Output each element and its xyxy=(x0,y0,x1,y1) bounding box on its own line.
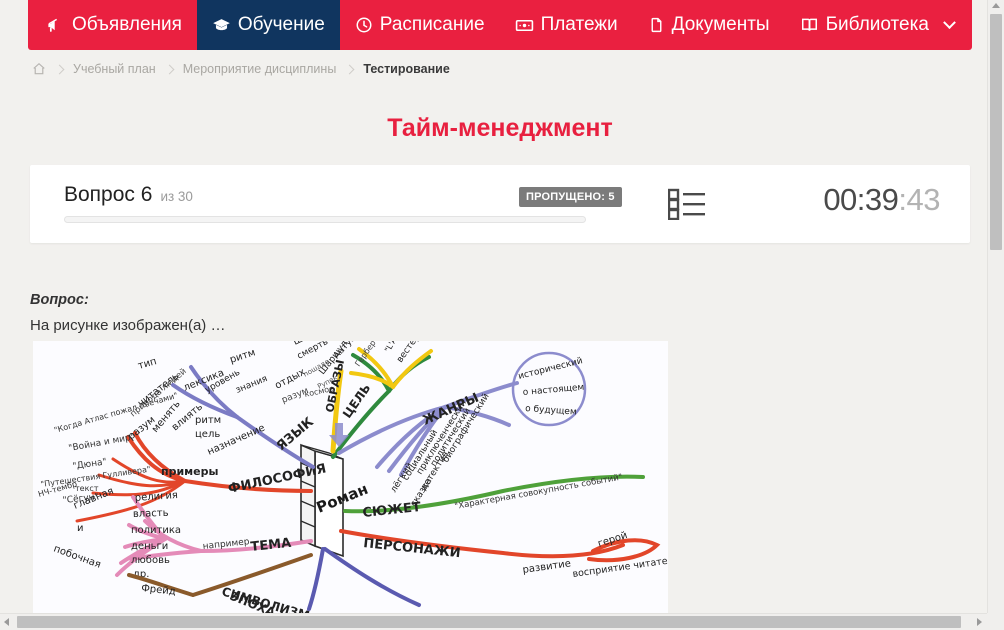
question-label: Вопрос: xyxy=(30,292,89,308)
horizontal-scrollbar-thumb[interactable] xyxy=(17,616,961,628)
scroll-right-arrow-icon[interactable] xyxy=(977,618,982,626)
nav-label-documents: Документы xyxy=(672,14,770,36)
svg-text:любовь: любовь xyxy=(131,555,170,566)
breadcrumb-current-testing: Тестирование xyxy=(363,62,450,76)
breadcrumb-item-curriculum[interactable]: Учебный план xyxy=(73,62,156,76)
nav-label-announcements: Объявления xyxy=(72,14,182,36)
nav-label-payments: Платежи xyxy=(541,14,618,36)
nav-item-documents[interactable]: Документы xyxy=(633,0,785,50)
breadcrumb-item-discipline-event[interactable]: Мероприятие дисциплины xyxy=(183,62,337,76)
scroll-up-arrow-icon[interactable] xyxy=(992,3,1000,8)
scrollbar-corner xyxy=(987,613,1004,630)
mindmap-svg: Роман ФИЛОСОФИЯ разум природа людей меня… xyxy=(33,341,668,613)
clock-icon xyxy=(355,16,373,34)
main-navigation: Объявления Обучение Ра xyxy=(28,0,972,50)
megaphone-icon xyxy=(46,16,65,35)
svg-text:власть: власть xyxy=(133,508,169,520)
nav-item-schedule[interactable]: Расписание xyxy=(340,0,500,50)
question-number: Вопрос 6 xyxy=(64,183,152,207)
question-text: На рисунке изображен(а) … xyxy=(30,317,225,334)
vertical-scrollbar-thumb[interactable] xyxy=(990,14,1002,250)
list-icon[interactable] xyxy=(668,188,706,225)
nav-label-library: Библиотека xyxy=(826,14,929,36)
breadcrumb-separator-2 xyxy=(164,64,174,74)
nav-item-learning[interactable]: Обучение xyxy=(197,0,340,50)
banknote-icon xyxy=(515,16,534,35)
scroll-left-arrow-icon[interactable] xyxy=(4,618,9,626)
status-badge-skipped: ПРОПУЩЕНО: 5 xyxy=(519,187,622,207)
svg-text:ритм: ритм xyxy=(195,415,221,426)
app-page: Объявления Обучение Ра xyxy=(0,0,1004,630)
svg-text:примеры: примеры xyxy=(161,465,219,478)
svg-text:цель: цель xyxy=(195,429,220,440)
document-icon xyxy=(648,16,665,34)
timer-hours-minutes: 00:39 xyxy=(823,182,898,217)
question-image-mindmap: Роман ФИЛОСОФИЯ разум природа людей меня… xyxy=(33,341,668,613)
breadcrumb-separator-3 xyxy=(345,64,355,74)
svg-text:деньги: деньги xyxy=(131,541,168,552)
breadcrumb-separator-1 xyxy=(55,64,65,74)
chevron-down-icon[interactable] xyxy=(943,16,956,29)
nav-item-library[interactable]: Библиотека xyxy=(785,0,969,50)
nav-item-announcements[interactable]: Объявления xyxy=(28,0,197,50)
nav-item-payments[interactable]: Платежи xyxy=(500,0,633,50)
nav-label-schedule: Расписание xyxy=(380,14,485,36)
content-viewport: Объявления Обучение Ра xyxy=(0,0,987,613)
svg-text:политика: политика xyxy=(131,525,181,536)
graduation-cap-icon xyxy=(212,16,231,35)
quiz-progress-bar xyxy=(64,216,586,223)
timer-seconds: :43 xyxy=(898,182,940,217)
question-total: из 30 xyxy=(160,189,193,204)
book-icon xyxy=(800,16,819,34)
vertical-scrollbar[interactable] xyxy=(987,0,1004,614)
nav-label-learning: Обучение xyxy=(238,14,325,36)
countdown-timer: 00:39:43 xyxy=(760,182,940,218)
horizontal-scrollbar[interactable] xyxy=(0,613,1004,630)
breadcrumb: Учебный план Мероприятие дисциплины Тест… xyxy=(32,62,450,76)
svg-text:и: и xyxy=(77,523,84,534)
home-icon[interactable] xyxy=(32,62,46,76)
page-title: Тайм-менеджмент xyxy=(0,114,987,143)
